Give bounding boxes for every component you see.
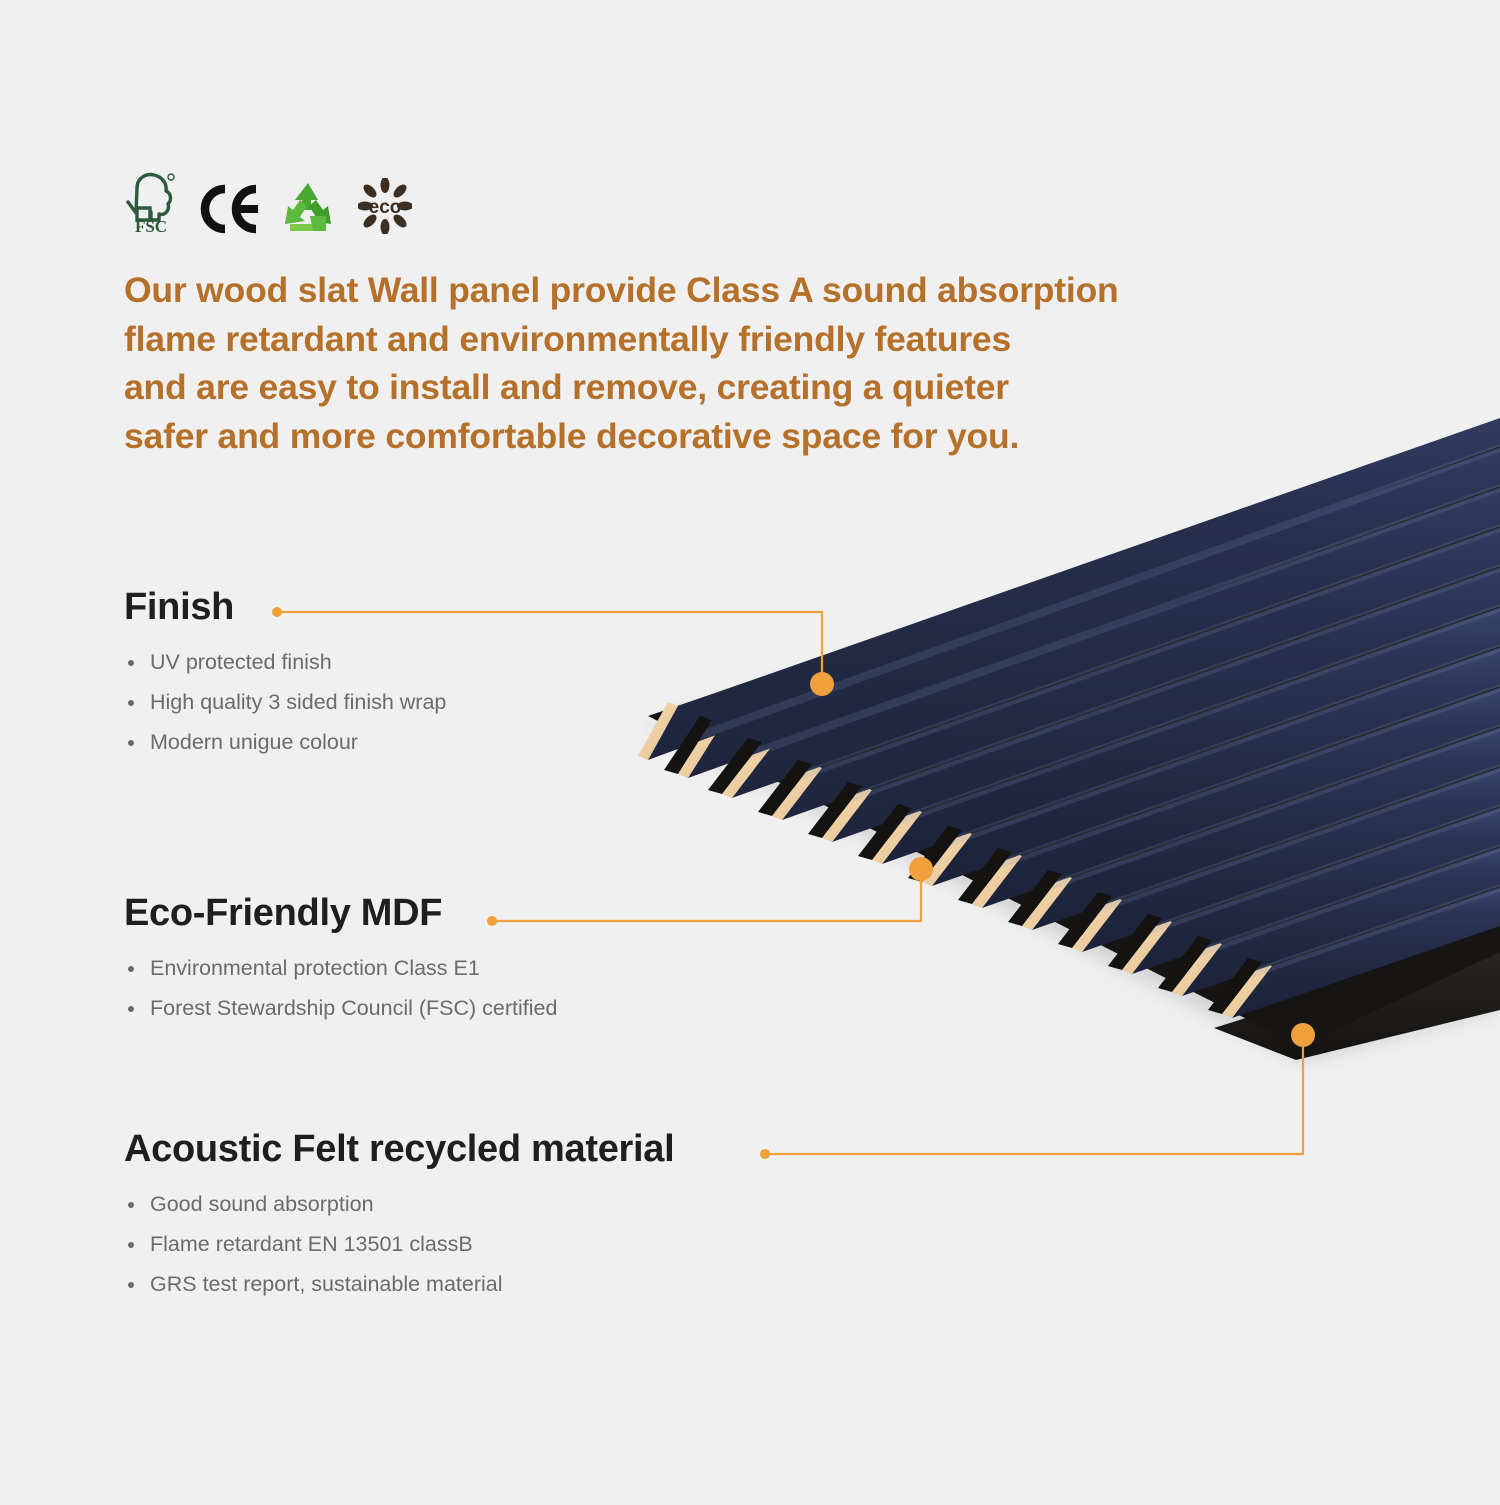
slat xyxy=(1172,848,1500,996)
felt-backing-top xyxy=(648,424,1500,1046)
headline-line-1: Our wood slat Wall panel provide Class A… xyxy=(124,266,1204,315)
headline-line-3: and are easy to install and remove, crea… xyxy=(124,363,1204,412)
recycle-icon xyxy=(280,180,336,234)
feature-block-acoustic: Acoustic Felt recycled material Good sou… xyxy=(124,1130,674,1304)
slat xyxy=(1072,768,1500,952)
slat xyxy=(772,528,1500,820)
slat xyxy=(972,688,1500,908)
slat xyxy=(1122,808,1500,974)
svg-text:eco: eco xyxy=(369,197,402,218)
slat-highlights xyxy=(692,444,1500,982)
leader-acoustic xyxy=(760,1023,1315,1159)
felt-backing-edge xyxy=(1214,938,1500,1060)
slat xyxy=(872,608,1500,864)
feature-title-mdf: Eco-Friendly MDF xyxy=(124,894,442,932)
list-item: Flame retardant EN 13501 classB xyxy=(124,1224,674,1264)
list-item: Forest Stewardship Council (FSC) certifi… xyxy=(124,988,557,1028)
headline-line-2: flame retardant and environmentally frie… xyxy=(124,315,1204,364)
feature-heading-acoustic: Acoustic Felt recycled material xyxy=(124,1130,674,1168)
slat xyxy=(678,448,1500,778)
feature-heading-finish: Finish xyxy=(124,588,446,626)
headline: Our wood slat Wall panel provide Class A… xyxy=(124,266,1204,460)
feature-heading-mdf: Eco-Friendly MDF xyxy=(124,894,557,932)
headline-line-4: safer and more comfortable decorative sp… xyxy=(124,412,1204,461)
feature-bullets-mdf: Environmental protection Class E1 Forest… xyxy=(124,948,557,1028)
eco-icon: eco xyxy=(358,178,412,234)
list-item: GRS test report, sustainable material xyxy=(124,1264,674,1304)
list-item: Environmental protection Class E1 xyxy=(124,948,557,988)
list-item: Modern unigue colour xyxy=(124,722,446,762)
list-item: UV protected finish xyxy=(124,642,446,682)
feature-title-finish: Finish xyxy=(124,588,234,626)
slat-group xyxy=(638,418,1500,1018)
fsc-icon: FSC xyxy=(124,168,178,234)
certification-badges: FSC eco xyxy=(124,160,412,234)
list-item: Good sound absorption xyxy=(124,1184,674,1224)
felt-gaps xyxy=(664,716,1262,1014)
feature-title-acoustic: Acoustic Felt recycled material xyxy=(124,1130,674,1168)
list-item: High quality 3 sided finish wrap xyxy=(124,682,446,722)
slat xyxy=(822,568,1500,842)
feature-bullets-finish: UV protected finish High quality 3 sided… xyxy=(124,642,446,762)
feature-bullets-acoustic: Good sound absorption Flame retardant EN… xyxy=(124,1184,674,1304)
feature-block-finish: Finish UV protected finish High quality … xyxy=(124,588,446,762)
slat xyxy=(1222,888,1500,1018)
slat xyxy=(922,648,1500,886)
panel-shadow xyxy=(648,452,1500,1062)
feature-block-mdf: Eco-Friendly MDF Environmental protectio… xyxy=(124,894,557,1028)
slat xyxy=(638,418,1500,760)
slat xyxy=(722,488,1500,798)
ce-icon xyxy=(200,184,258,234)
svg-text:FSC: FSC xyxy=(135,217,167,234)
slat xyxy=(1022,728,1500,930)
